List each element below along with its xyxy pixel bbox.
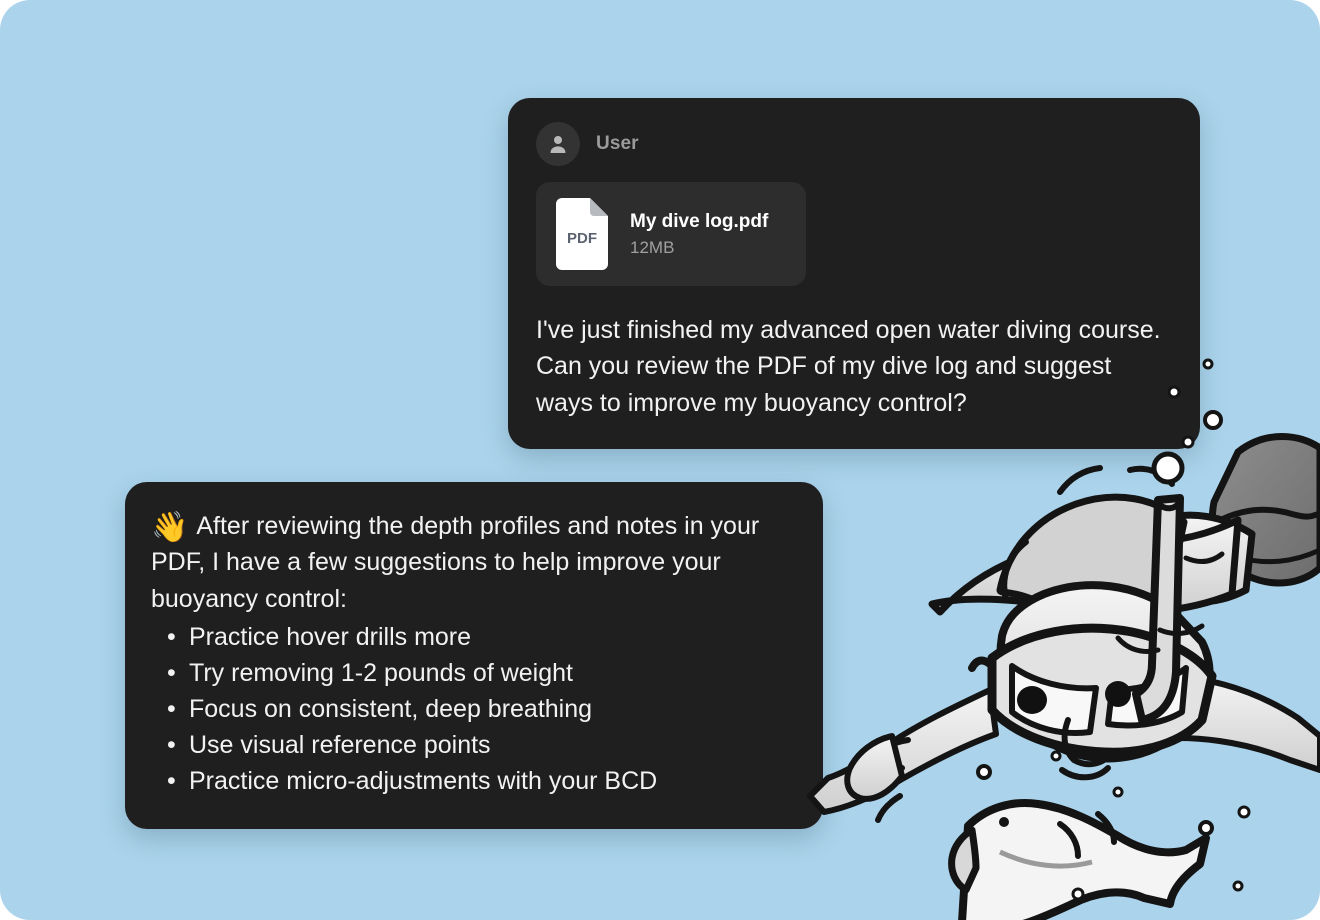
app-canvas: User PDF My dive log.pdf 12MB I've just …	[0, 0, 1320, 920]
attachment-size: 12MB	[630, 238, 768, 258]
person-icon	[546, 132, 570, 156]
list-item: Practice micro-adjustments with your BCD	[151, 763, 793, 799]
user-message-text: I've just finished my advanced open wate…	[536, 312, 1172, 421]
list-item: Focus on consistent, deep breathing	[151, 691, 793, 727]
attachment-card[interactable]: PDF My dive log.pdf 12MB	[536, 182, 806, 286]
assistant-intro-text: After reviewing the depth profiles and n…	[151, 512, 759, 613]
user-message-bubble: User PDF My dive log.pdf 12MB I've just …	[508, 98, 1200, 449]
fish-illustration	[952, 803, 1206, 920]
pdf-file-icon: PDF	[552, 198, 612, 270]
message-author-name: User	[596, 133, 639, 155]
assistant-message-bubble: 👋After reviewing the depth profiles and …	[125, 482, 823, 829]
svg-text:PDF: PDF	[567, 230, 597, 247]
waving-hand-emoji: 👋	[151, 511, 188, 544]
attachment-name: My dive log.pdf	[630, 211, 768, 233]
list-item: Use visual reference points	[151, 727, 793, 763]
suggestion-list: Practice hover drills more Try removing …	[151, 619, 793, 799]
list-item: Try removing 1-2 pounds of weight	[151, 655, 793, 691]
diver-figure	[810, 437, 1320, 821]
user-message-header: User	[536, 122, 1172, 166]
avatar	[536, 122, 580, 166]
assistant-intro-block: 👋After reviewing the depth profiles and …	[151, 508, 793, 617]
attachment-meta: My dive log.pdf 12MB	[630, 211, 768, 258]
list-item: Practice hover drills more	[151, 619, 793, 655]
